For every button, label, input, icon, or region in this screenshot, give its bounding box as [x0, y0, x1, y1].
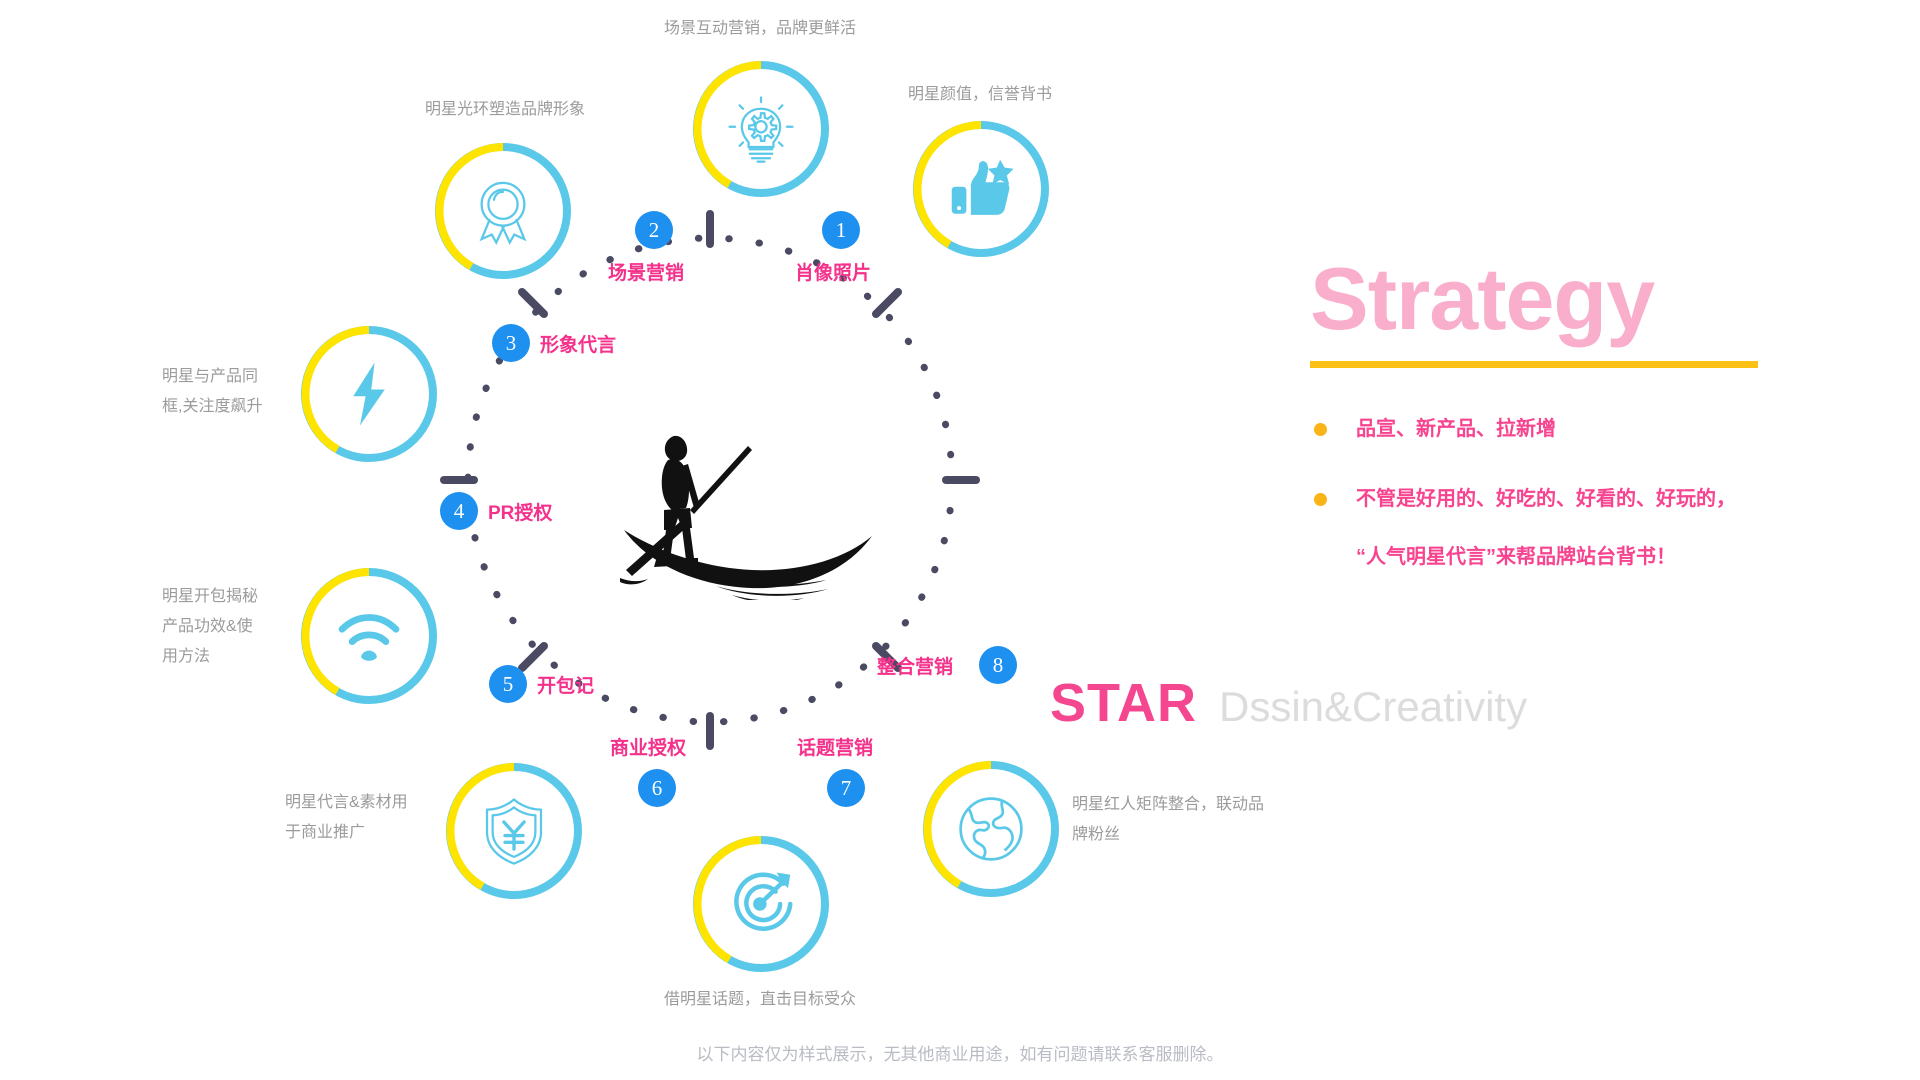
page-title: Strategy — [1310, 255, 1780, 343]
bullet-list: 品宣、新产品、拉新增 不管是好用的、好吃的、好看的、好玩的， — [1310, 414, 1780, 514]
caption-image-endorse: 明星光环塑造品牌形象 — [370, 95, 640, 125]
lightbulb-gear-icon — [725, 93, 797, 165]
globe-icon — [955, 793, 1027, 865]
gondolier-illustration — [620, 410, 880, 600]
step-label-7[interactable]: 话题营销 — [797, 733, 873, 760]
caption-portrait: 明星颜值，信誉背书 — [860, 80, 1100, 110]
logo-star-text: STAR — [1050, 672, 1197, 734]
title-underline — [1310, 361, 1758, 368]
step-label-4[interactable]: PR授权 — [488, 498, 552, 525]
bullet-text: 不管是好用的、好吃的、好看的、好玩的， — [1356, 488, 1736, 510]
step-badge-1[interactable]: 1 — [822, 211, 860, 249]
step-badge-6[interactable]: 6 — [638, 769, 676, 807]
step-label-2[interactable]: 场景营销 — [608, 258, 684, 285]
target-arrow-icon — [725, 868, 797, 940]
caption-commercial: 明星代言&素材用 于商业推广 — [285, 788, 495, 848]
bullet-text: 品宣、新产品、拉新增 — [1356, 418, 1556, 440]
node-integrated[interactable] — [920, 758, 1062, 900]
caption-integrated: 明星红人矩阵整合，联动品 牌粉丝 — [1072, 790, 1312, 850]
node-topic[interactable] — [690, 833, 832, 975]
bullet-dot-icon — [1314, 493, 1327, 506]
step-label-5[interactable]: 开包记 — [537, 671, 594, 698]
caption-scene: 场景互动营销，品牌更鲜活 — [600, 14, 920, 44]
node-scene[interactable] — [690, 58, 832, 200]
bullet-dot-icon — [1314, 423, 1327, 436]
wifi-signal-icon — [333, 600, 405, 672]
list-item: 不管是好用的、好吃的、好看的、好玩的， — [1310, 484, 1780, 514]
footer-disclaimer: 以下内容仅为样式展示，无其他商业用途，如有问题请联系客服删除。 — [0, 1040, 1920, 1065]
step-badge-7[interactable]: 7 — [827, 769, 865, 807]
thumbs-up-star-icon — [945, 153, 1017, 225]
caption-unboxing: 明星开包揭秘 产品功效&使 用方法 — [162, 582, 332, 672]
step-label-6[interactable]: 商业授权 — [610, 733, 686, 760]
panel-tagline: “人气明星代言”来帮品牌站台背书！ — [1310, 540, 1780, 569]
strategy-panel: Strategy 品宣、新产品、拉新增 不管是好用的、好吃的、好看的、好玩的， … — [1310, 255, 1780, 569]
step-badge-8[interactable]: 8 — [979, 646, 1017, 684]
slide-canvas: 明星颜值，信誉背书 场景互动营销，品牌更鲜活 — [0, 0, 1920, 1080]
caption-topic: 借明星话题，直击目标受众 — [600, 985, 920, 1015]
step-label-1[interactable]: 肖像照片 — [795, 258, 871, 285]
step-badge-4[interactable]: 4 — [440, 492, 478, 530]
step-badge-5[interactable]: 5 — [489, 665, 527, 703]
brand-logo: STAR Dssin&Creativity — [1050, 672, 1527, 734]
lightning-bolt-icon — [333, 358, 405, 430]
caption-pr-license: 明星与产品同 框,关注度飙升 — [162, 362, 332, 422]
node-portrait[interactable] — [910, 118, 1052, 260]
step-badge-3[interactable]: 3 — [492, 324, 530, 362]
list-item: 品宣、新产品、拉新增 — [1310, 414, 1780, 444]
step-label-3[interactable]: 形象代言 — [540, 330, 616, 357]
award-ribbon-icon — [467, 175, 539, 247]
step-badge-2[interactable]: 2 — [635, 211, 673, 249]
step-label-8[interactable]: 整合营销 — [877, 652, 953, 679]
logo-sub-text: Dssin&Creativity — [1219, 683, 1527, 731]
node-image-endorse[interactable] — [432, 140, 574, 282]
